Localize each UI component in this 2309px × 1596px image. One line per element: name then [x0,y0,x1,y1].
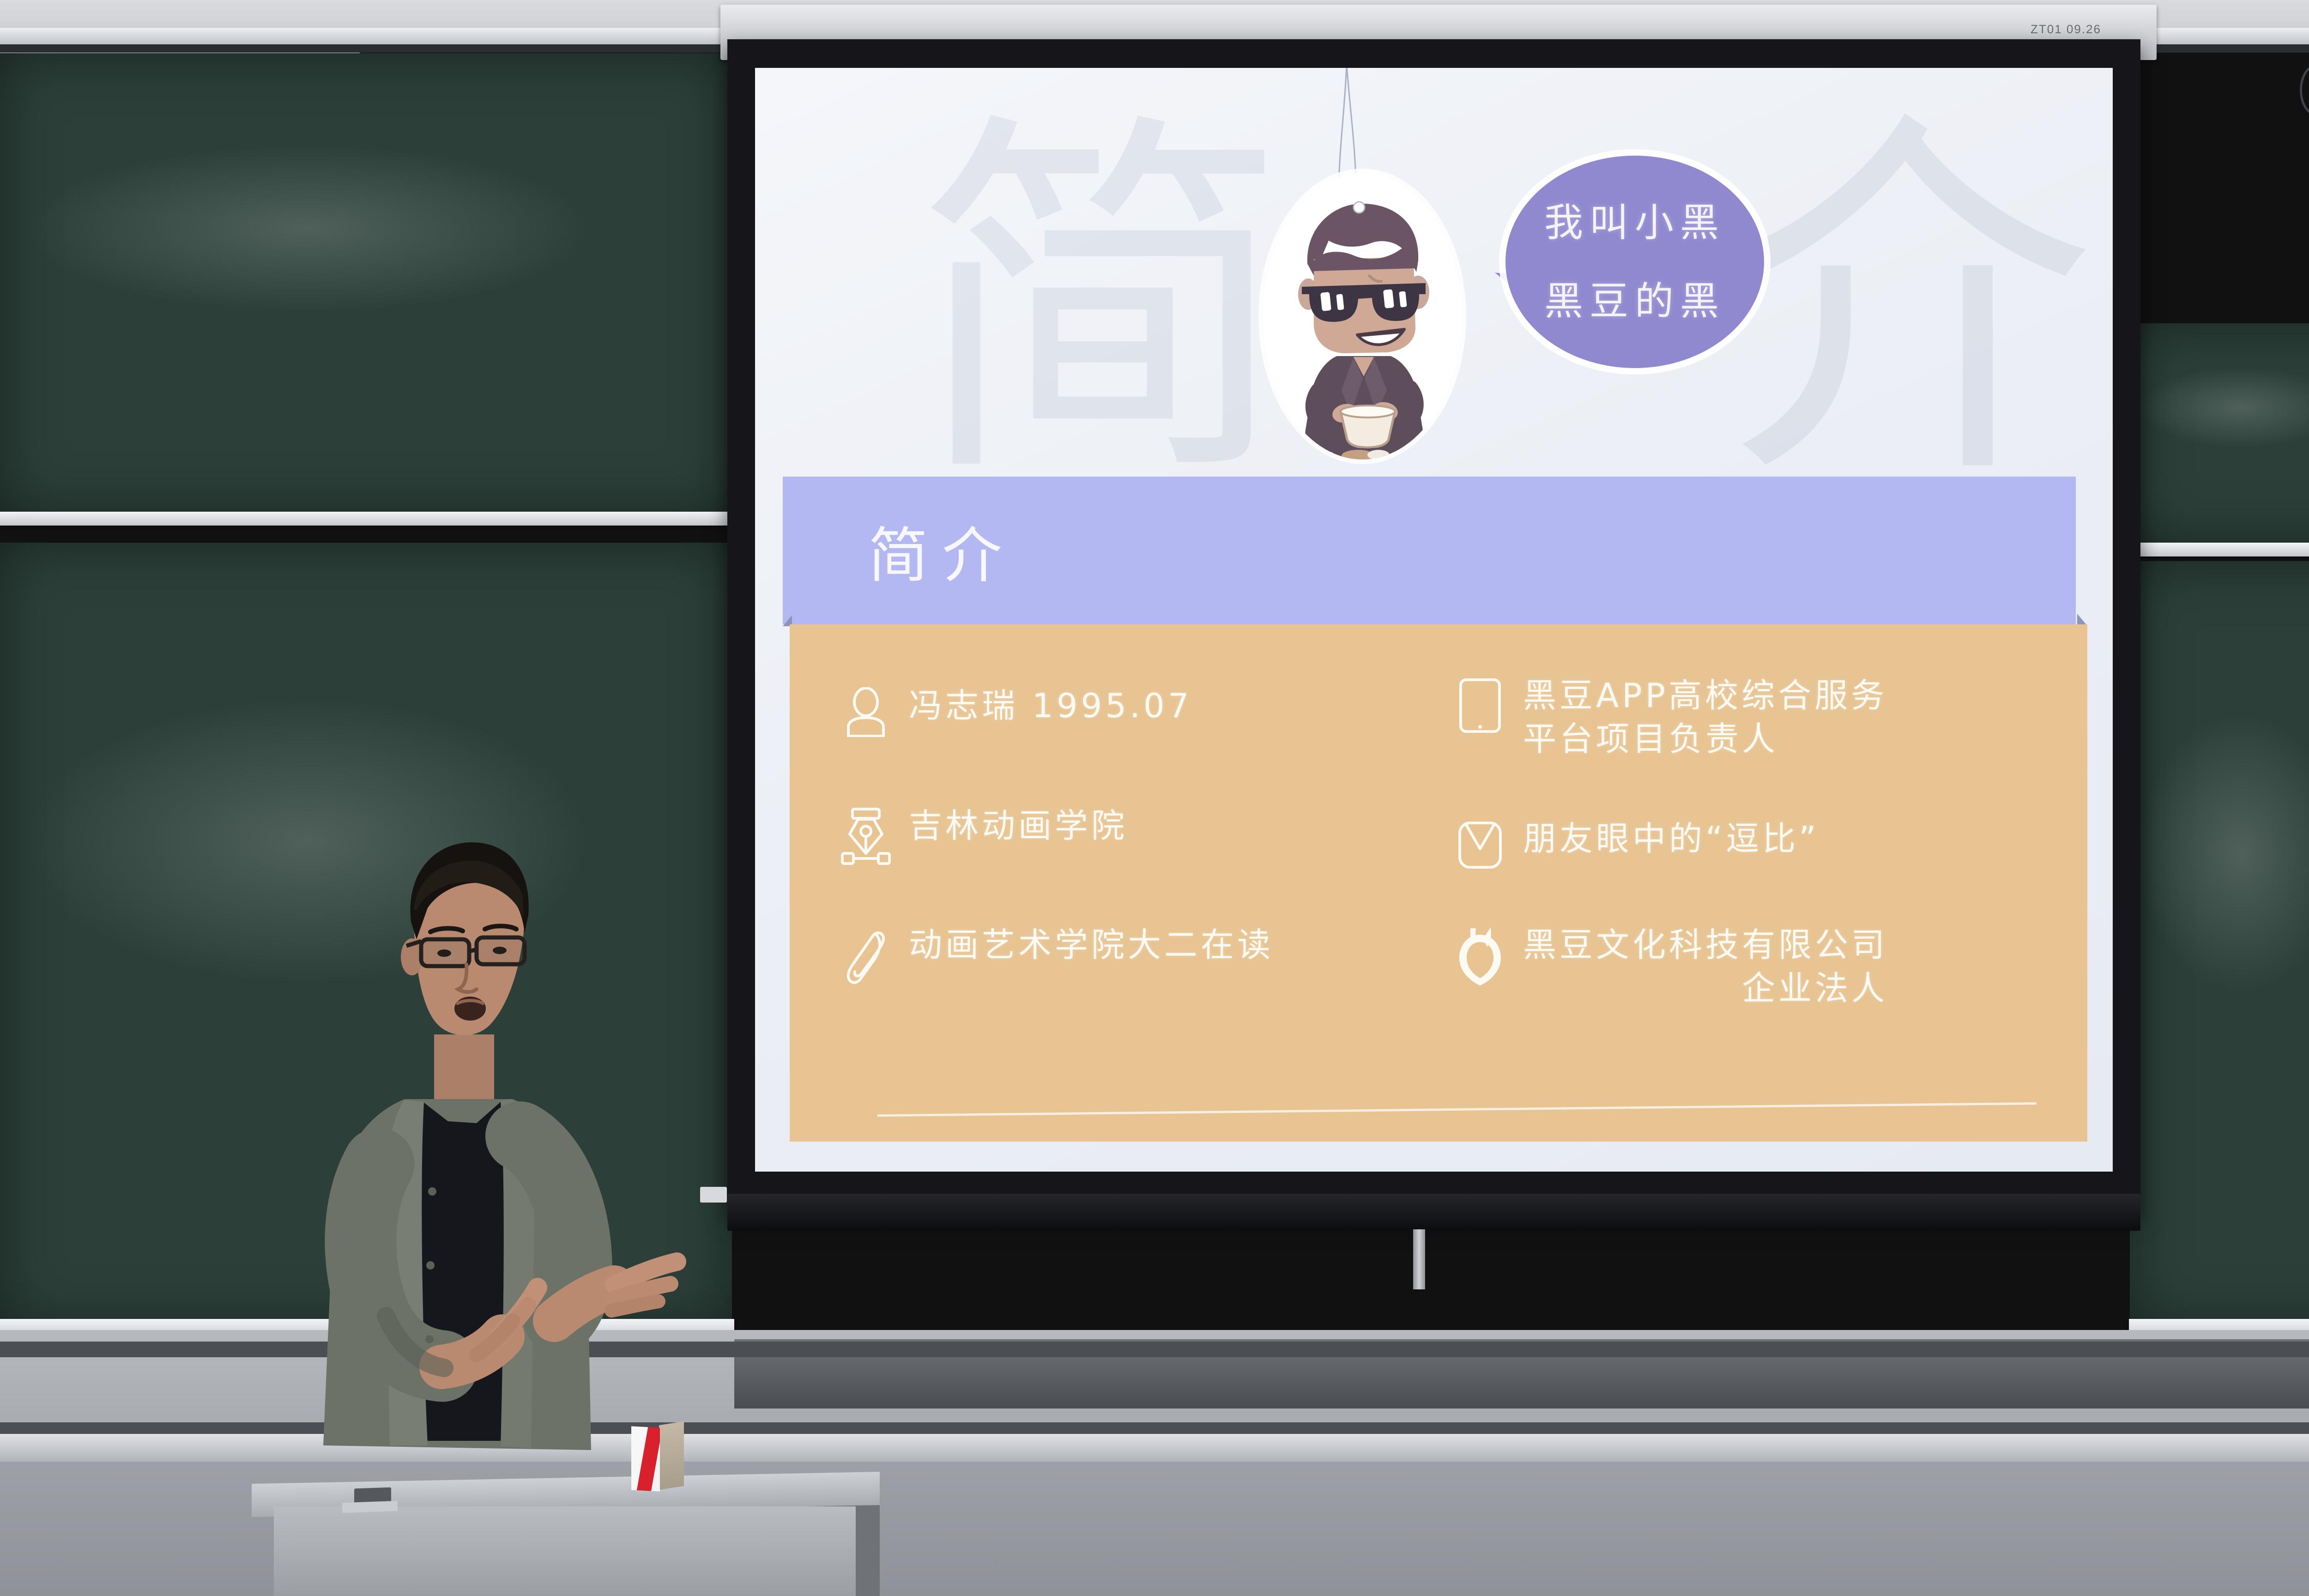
speech-bubble: 我叫小黑 黑豆的黑 [1505,156,1764,368]
slide-info-panel: 冯志瑞 1995.07 [790,624,2087,1142]
projection-screen-assembly: ZT01 09.26 简 介 [720,5,2157,1251]
slide-content: 简 介 [755,68,2113,1172]
desk-small-object-2 [342,1501,398,1513]
slide-watermark: 简 介 [912,82,2020,544]
slide-title-banner: 简介 [783,477,2076,624]
screen-weighted-bar [727,1194,2140,1231]
tablet-icon [1450,674,1510,736]
paperclip-icon [836,924,896,985]
podium-body [274,1506,856,1596]
slide-columns: 冯志瑞 1995.07 [790,624,2087,1142]
list-item: 黑豆文化科技有限公司 企业法人 [1450,924,1888,1010]
right-item-block: 朋友眼中的“逗比” [1510,817,1819,861]
podium-desk [252,1478,880,1596]
right-item-line-2: 企业法人 [1510,967,1888,1010]
left-item-text: 动画艺术学院大二在读 [896,924,1274,967]
slide-title: 简介 [868,507,1016,594]
envelope-icon [1450,817,1510,872]
chalkboard-right-lower [2130,561,2309,1328]
left-item-text: 吉林动画学院 [896,804,1128,848]
paper-packet [631,1427,681,1491]
chalkboard-right-upper [2130,323,2309,545]
presenter [296,840,813,1487]
list-item: 朋友眼中的“逗比” [1450,817,1819,872]
cartoon-boy-with-sunglasses-avatar [1263,173,1462,459]
cable-loop [2300,65,2309,115]
screen-pull-handle[interactable] [1413,1229,1425,1289]
right-item-line-1: 朋友眼中的“逗比” [1510,817,1819,861]
presenter-figure [296,840,813,1487]
right-item-line-1: 黑豆文化科技有限公司 [1510,924,1888,967]
list-item: 动画艺术学院大二在读 [836,924,1274,985]
list-item: 黑豆APP高校综合服务 平台项目负责人 [1450,674,1887,761]
speech-bubble-line-1: 我叫小黑 [1544,203,1725,242]
avatar [1263,173,1462,459]
packet-front-face [631,1426,660,1491]
right-item-block: 黑豆文化科技有限公司 企业法人 [1510,924,1888,1010]
list-item: 冯志瑞 1995.07 [836,684,1192,737]
chalkboard-left-upper [0,53,732,515]
projected-slide: 简 介 [755,68,2113,1172]
right-item-line-2: 平台项目负责人 [1510,718,1887,761]
person-icon [836,684,896,737]
left-item-text: 冯志瑞 1995.07 [896,684,1192,728]
speech-bubble-line-2: 黑豆的黑 [1544,282,1725,320]
pen-nib-icon [836,804,896,865]
roller-case-label: ZT01 09.26 [2031,22,2101,36]
heidou-logo-icon [1450,924,1510,987]
list-item: 吉林动画学院 [836,804,1128,865]
screen-frame: 简 介 [727,39,2140,1215]
classroom-scene: ZT01 09.26 简 介 [0,0,2309,1596]
chalk-rail-left [0,512,734,526]
packet-side-face [659,1421,684,1490]
right-item-block: 黑豆APP高校综合服务 平台项目负责人 [1510,674,1887,761]
right-item-line-1: 黑豆APP高校综合服务 [1510,674,1887,718]
